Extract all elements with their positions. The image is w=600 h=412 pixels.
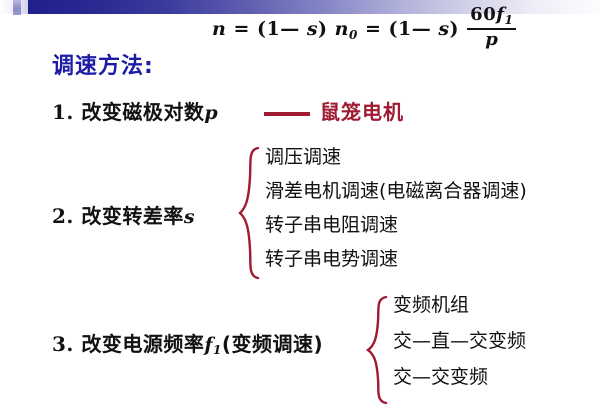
equation-n: n — [212, 18, 226, 40]
item-3-label: 改变电源频率 — [81, 332, 204, 356]
list-item: 转子串电势调速 — [265, 250, 527, 269]
fraction-numerator: 60f1 — [467, 6, 516, 30]
list-item: 滑差电机调速(电磁离合器调速) — [265, 182, 527, 201]
equation-fraction: 60f1 p — [467, 6, 516, 49]
method-item-2: 2. 改变转差率s — [52, 200, 195, 229]
equation-n0-subscript: 0 — [349, 28, 358, 42]
list-item: 交—交变频 — [393, 368, 526, 387]
item-1-variable: p — [204, 102, 218, 124]
fraction-denominator: p — [467, 30, 516, 50]
brace-item-2 — [238, 145, 262, 281]
item-2-number: 2. — [52, 204, 74, 228]
list-item: 调压调速 — [265, 148, 527, 167]
slide-canvas: n = (1— s) n0 = (1— s) 60f1 p 调速方法: 1. 改… — [0, 0, 600, 412]
list-item: 变频机组 — [393, 296, 526, 315]
item-1-number: 1. — [52, 100, 74, 124]
item-3-number: 3. — [52, 332, 74, 356]
item-2-variable: s — [184, 206, 195, 228]
list-item: 转子串电阻调速 — [265, 216, 527, 235]
equation-minus2: — — [412, 18, 432, 40]
method-item-1: 1. 改变磁极对数p — [52, 96, 218, 125]
equation-s2: s — [438, 18, 449, 40]
page-title: 调速方法: — [52, 48, 154, 80]
equation-eq2: = (1 — [365, 18, 412, 40]
item-3-suffix: (变频调速) — [222, 332, 323, 356]
item-3-sublist: 变频机组 交—直—交变频 交—交变频 — [393, 296, 526, 404]
equation-eq1: = (1 — [233, 18, 280, 40]
item-3-variable-subscript: 1 — [213, 343, 222, 357]
equation-minus1: — — [280, 18, 300, 40]
equation-n0: n — [335, 18, 349, 40]
equation-close2: ) — [450, 18, 460, 40]
speed-equation: n = (1— s) n0 = (1— s) 60f1 p — [212, 8, 517, 51]
accent-bar-tick — [13, 0, 21, 15]
brace-item-3 — [366, 294, 390, 406]
item-1-label: 改变磁极对数 — [81, 100, 204, 124]
method-item-3: 3. 改变电源频率f1(变频调速) — [52, 328, 323, 357]
equation-s1: s — [307, 18, 318, 40]
item-3-variable: f — [204, 334, 213, 356]
item-2-label: 改变转差率 — [81, 204, 184, 228]
equation-close1: ) — [318, 18, 328, 40]
item-1-dash — [264, 112, 310, 116]
item-2-sublist: 调压调速 滑差电机调速(电磁离合器调速) 转子串电阻调速 转子串电势调速 — [265, 148, 527, 284]
numerator-f-subscript: 1 — [504, 13, 513, 27]
item-1-highlight: 鼠笼电机 — [320, 96, 404, 125]
list-item: 交—直—交变频 — [393, 332, 526, 351]
numerator-60: 60 — [470, 4, 496, 25]
